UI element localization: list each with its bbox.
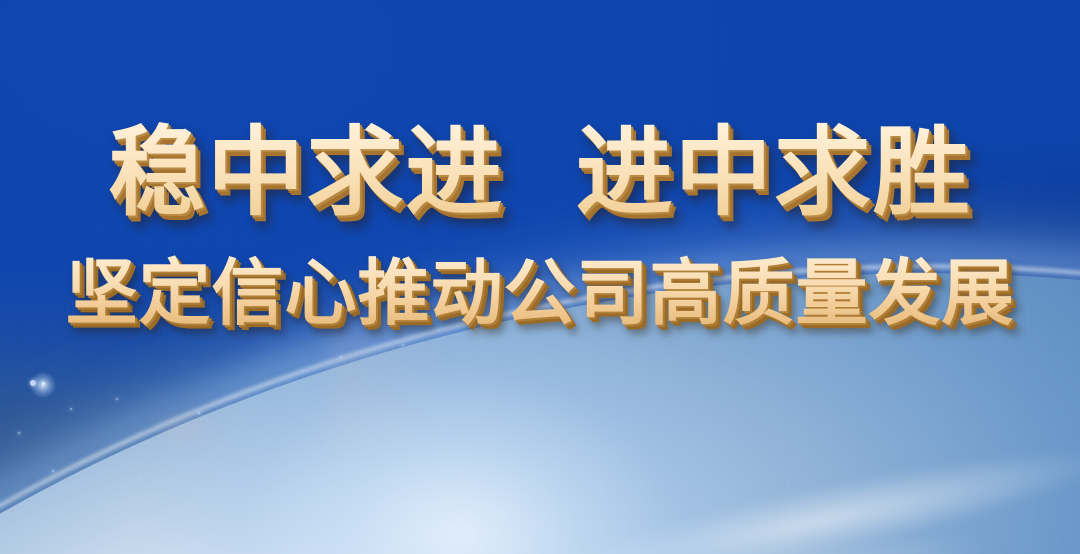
- promotional-banner: 稳中求进 进中求胜 坚定信心推动公司高质量发展: [0, 0, 1080, 554]
- background-noise-texture: [0, 0, 1080, 554]
